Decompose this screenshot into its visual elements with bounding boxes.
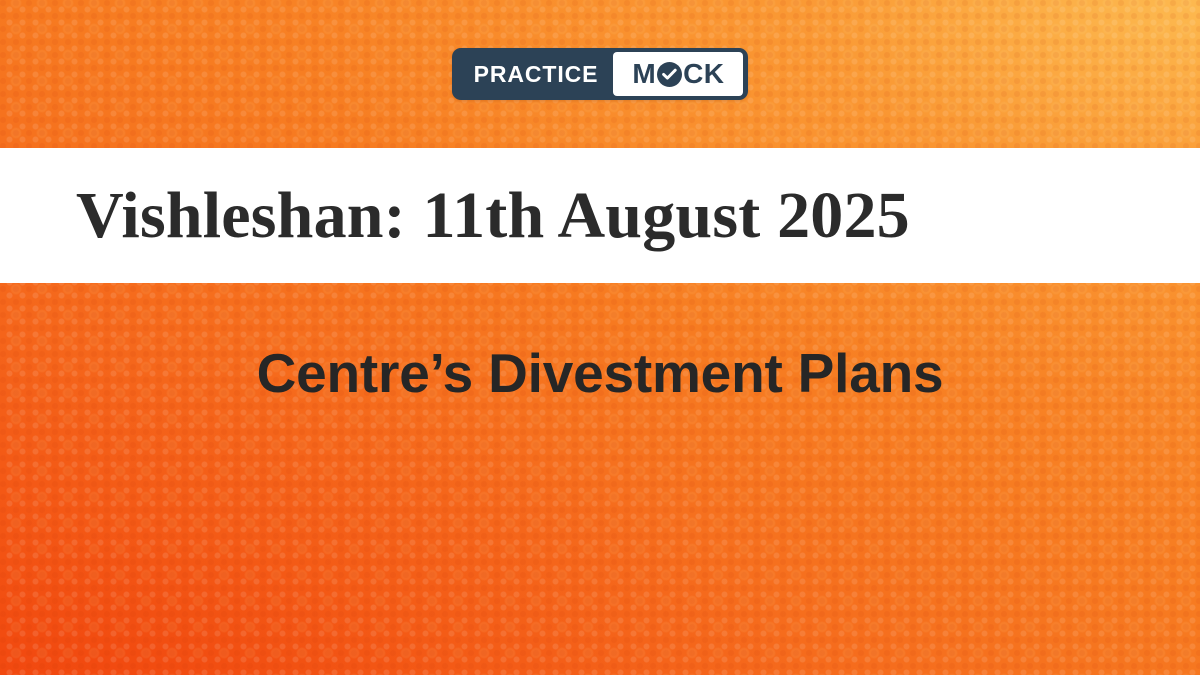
poster-canvas: PRACTICE M CK Vishleshan: 11th August 20… [0,0,1200,675]
page-subtitle: Centre’s Divestment Plans [257,346,944,401]
logo-word-mock: M CK [632,60,724,88]
practicemock-logo[interactable]: PRACTICE M CK [452,48,749,100]
header: PRACTICE M CK [0,0,1200,148]
subtitle-section: Centre’s Divestment Plans [0,283,1200,463]
logo-letters-ck: CK [683,60,724,88]
logo-letter-m: M [632,60,656,88]
page-title: Vishleshan: 11th August 2025 [0,183,910,249]
logo-word-practice: PRACTICE [452,52,614,96]
check-circle-icon [657,62,682,87]
title-band: Vishleshan: 11th August 2025 [0,148,1200,283]
logo-mock-panel: M CK [613,52,743,96]
